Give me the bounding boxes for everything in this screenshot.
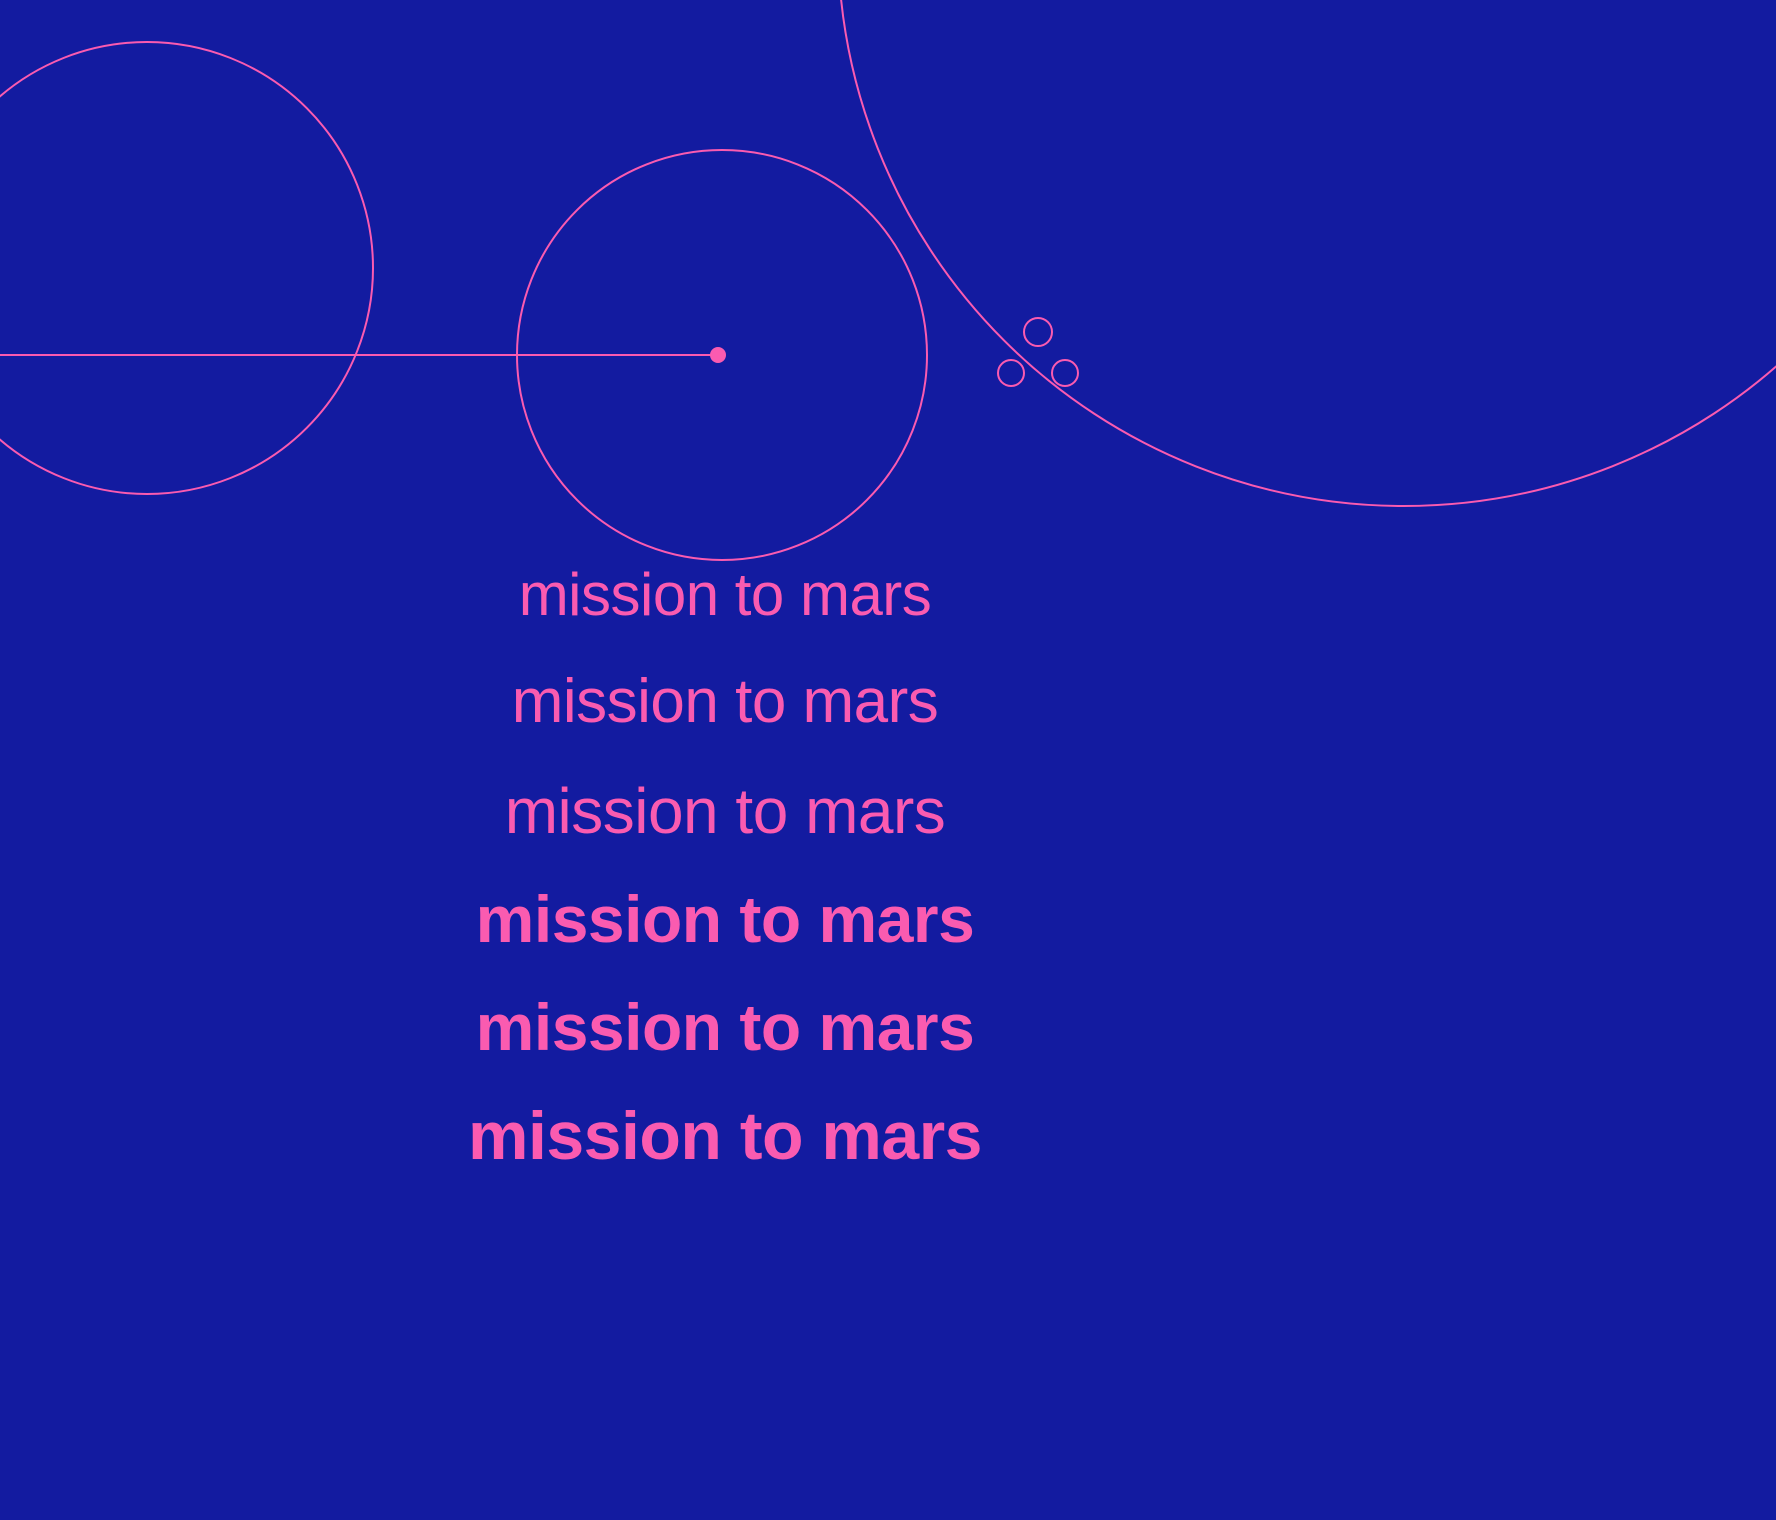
specimen-line-semibold: mission to mars [0,886,1450,952]
specimen-line-medium: mission to mars [0,779,1450,843]
specimen-line-light: mission to mars [0,565,1450,625]
type-specimen-canvas: mission to mars mission to mars mission … [0,0,1776,1520]
specimen-line-bold: mission to mars [0,994,1450,1060]
weight-specimen-list: mission to mars mission to mars mission … [0,0,1776,1520]
specimen-line-regular: mission to mars [0,671,1450,733]
specimen-line-black: mission to mars [0,1102,1450,1170]
